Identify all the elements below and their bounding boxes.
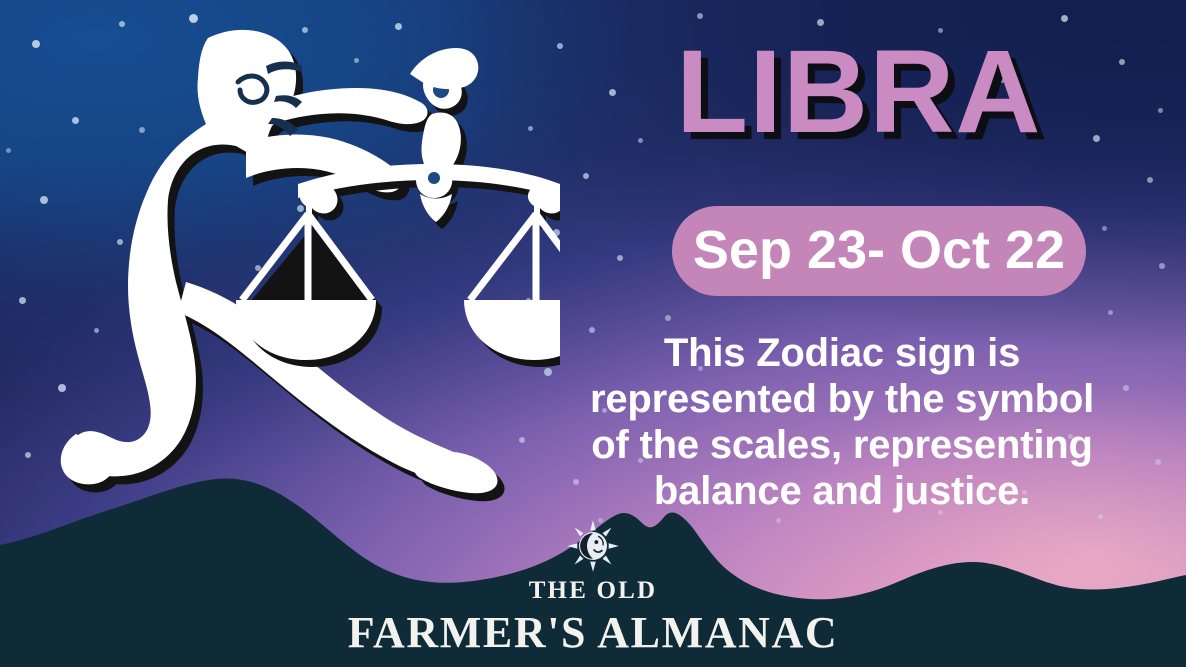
sun-moon-face-icon <box>565 518 621 574</box>
star-dot <box>1061 15 1068 22</box>
date-range-label: Sep 23- Oct 22 <box>693 219 1065 281</box>
brand-line-farmers-almanac: FARMER'S ALMANAC <box>0 611 1186 655</box>
brand-logo-block: THE OLD FARMER'S ALMANAC <box>0 518 1186 655</box>
scale-pivot-hole <box>428 172 440 184</box>
star-dot <box>1102 226 1107 231</box>
star-dot <box>638 138 643 143</box>
star-dot <box>1123 385 1129 391</box>
star-dot <box>583 173 589 179</box>
star-dot <box>817 19 824 26</box>
libra-zodiac-card: LIBRA Sep 23- Oct 22 This Zodiac sign is… <box>0 0 1186 667</box>
star-dot <box>1159 263 1165 269</box>
star-dot <box>19 297 26 304</box>
scale-pan-right <box>464 183 560 368</box>
star-dot <box>665 315 671 321</box>
date-range-badge: Sep 23- Oct 22 <box>672 206 1086 296</box>
sign-description: This Zodiac sign is represented by the s… <box>586 330 1098 514</box>
brand-line-the-old: THE OLD <box>0 578 1186 603</box>
star-dot <box>6 148 11 153</box>
star-dot <box>617 255 623 261</box>
star-dot <box>697 13 703 19</box>
page-title: LIBRA <box>676 33 1176 151</box>
hand-grip <box>410 48 478 89</box>
libra-figure-illustration <box>40 14 560 514</box>
scale-pan-left <box>236 183 382 368</box>
star-dot <box>609 89 616 96</box>
star-dot <box>1108 310 1113 315</box>
star-dot <box>25 452 31 458</box>
star-dot <box>32 40 40 48</box>
star-dot <box>1147 177 1153 183</box>
star-dot <box>1155 459 1161 465</box>
